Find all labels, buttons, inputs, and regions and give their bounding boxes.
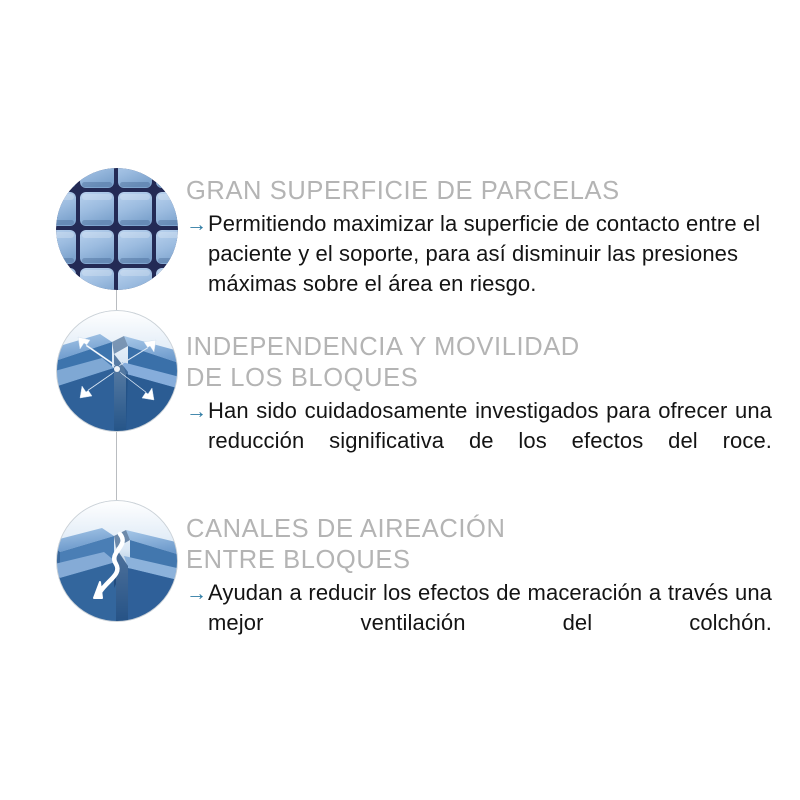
feature-section-aireacion: CANALES DE AIREACIÓN ENTRE BLOQUES → Ayu… (186, 514, 772, 668)
section-body-aireacion: Ayudan a reducir los efectos de maceraci… (208, 578, 772, 668)
section-body-row: → Han sido cuidadosamente investigados p… (186, 396, 772, 486)
section-body-row: → Ayudan a reducir los efectos de macera… (186, 578, 772, 668)
infographic-panel: GRAN SUPERFICIE DE PARCELAS → Permitiend… (0, 0, 800, 800)
foam-blocks-arrows-icon (56, 310, 178, 432)
section-body-parcelas: Permitiendo maximizar la superficie de c… (208, 209, 772, 299)
feature-section-parcelas: GRAN SUPERFICIE DE PARCELAS → Permitiend… (186, 176, 772, 299)
foam-grid-blocks-icon (56, 168, 178, 290)
arrow-right-icon: → (186, 579, 208, 609)
connector-line-2-3 (116, 428, 117, 508)
section-heading-aireacion: CANALES DE AIREACIÓN ENTRE BLOQUES (186, 514, 772, 576)
feature-section-bloques: INDEPENDENCIA Y MOVILIDAD DE LOS BLOQUES… (186, 332, 772, 486)
section-body-row: → Permitiendo maximizar la superficie de… (186, 209, 772, 299)
arrow-right-icon: → (186, 397, 208, 427)
section-body-bloques: Han sido cuidadosamente investigados par… (208, 396, 772, 486)
section-heading-parcelas: GRAN SUPERFICIE DE PARCELAS (186, 176, 772, 207)
section-heading-bloques: INDEPENDENCIA Y MOVILIDAD DE LOS BLOQUES (186, 332, 772, 394)
foam-airflow-channel-icon (56, 500, 178, 622)
arrow-right-icon: → (186, 210, 208, 240)
